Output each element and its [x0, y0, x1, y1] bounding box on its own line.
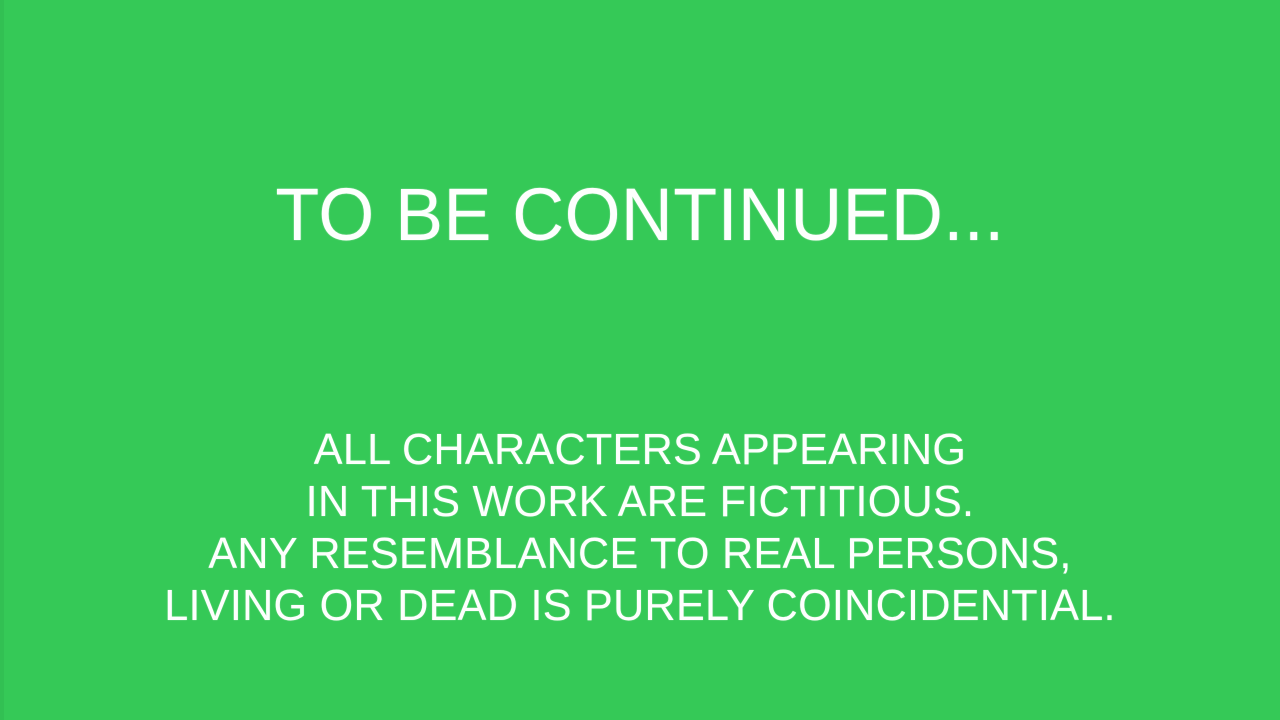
disclaimer-block: ALL CHARACTERS APPEARING IN THIS WORK AR…	[0, 424, 1280, 632]
disclaimer-line: IN THIS WORK ARE FICTITIOUS.	[13, 476, 1267, 528]
to-be-continued-card: TO BE CONTINUED... ALL CHARACTERS APPEAR…	[0, 0, 1280, 720]
disclaimer-line: ANY RESEMBLANCE TO REAL PERSONS,	[13, 528, 1267, 580]
disclaimer-line: ALL CHARACTERS APPEARING	[13, 424, 1267, 476]
text-stack: TO BE CONTINUED... ALL CHARACTERS APPEAR…	[0, 0, 1280, 720]
disclaimer-line: LIVING OR DEAD IS PURELY COINCIDENTIAL.	[13, 580, 1267, 632]
page-title: TO BE CONTINUED...	[19, 178, 1261, 252]
